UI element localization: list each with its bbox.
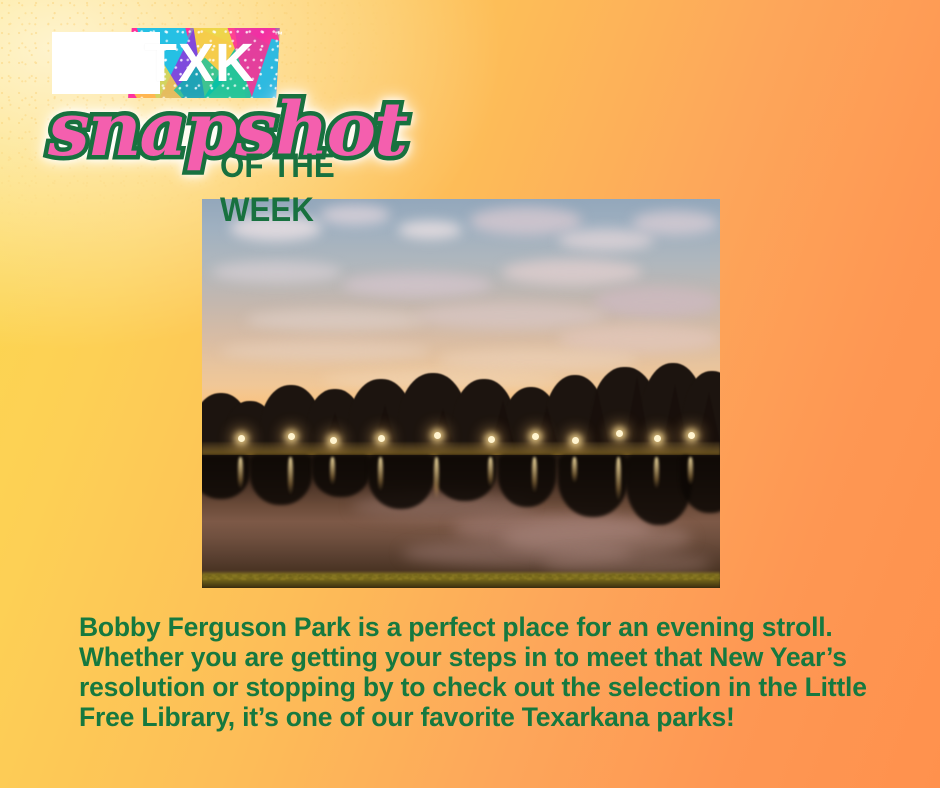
- cloud-reflection: [502, 521, 692, 555]
- lamp-reflection: [378, 457, 383, 491]
- lamp-reflection: [532, 457, 537, 493]
- street-lamp: [434, 432, 441, 439]
- lamp-reflection: [572, 457, 577, 483]
- street-lamp: [488, 436, 495, 443]
- lamp-reflection: [238, 457, 243, 489]
- street-lamp: [616, 430, 623, 437]
- lamp-reflection: [688, 457, 693, 485]
- lake-water: [202, 455, 720, 588]
- caption-text: Bobby Ferguson Park is a perfect place f…: [79, 612, 869, 732]
- cloud-reflection: [452, 513, 652, 543]
- snapshot-of-the-week-poster: go TXK ™ snapshot OF THE WEEK Bobby Ferg…: [0, 0, 940, 788]
- street-lamp: [330, 437, 337, 444]
- grass-tufts: [202, 566, 720, 582]
- trademark-icon: ™: [274, 30, 283, 40]
- street-lamp: [572, 437, 579, 444]
- tree-reflection: [498, 455, 556, 507]
- tree-reflection: [312, 455, 370, 497]
- lamp-reflection: [488, 457, 493, 487]
- cloud-reflection: [402, 539, 632, 567]
- lamp-reflection: [434, 457, 439, 499]
- street-lamp: [238, 435, 245, 442]
- lamp-reflection: [288, 457, 293, 495]
- park-sunset-photo: [202, 199, 720, 588]
- gotxk-snapshot-logo: go TXK ™ snapshot OF THE WEEK: [48, 26, 448, 186]
- of-the-week-subtitle: OF THE WEEK: [220, 144, 430, 232]
- street-lamp: [532, 433, 539, 440]
- lamp-reflection: [616, 457, 621, 501]
- street-lamp: [378, 435, 385, 442]
- street-lamp: [688, 432, 695, 439]
- street-lamp: [654, 435, 661, 442]
- lamp-reflection: [330, 457, 335, 485]
- street-lamp: [288, 433, 295, 440]
- tree-reflection: [434, 455, 496, 501]
- lamp-reflection: [654, 457, 659, 489]
- tree-reflection: [250, 455, 312, 505]
